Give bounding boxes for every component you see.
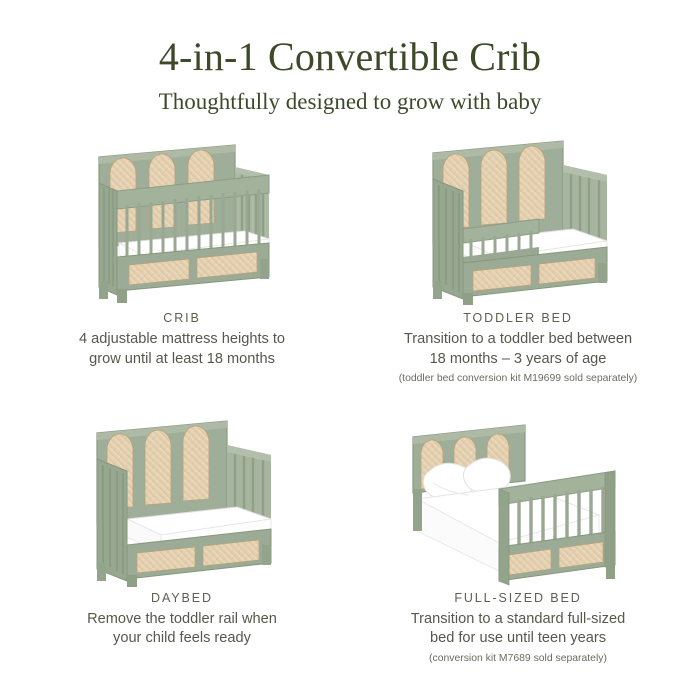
- full-bed-leg-right: [606, 561, 615, 579]
- config-line-2: 18 months – 3 years of age: [399, 350, 638, 370]
- crib-leg-front: [117, 289, 127, 303]
- config-line-2: bed for use until teen years: [411, 629, 625, 649]
- caption-full-sized-bed: FULL-SIZED BED Transition to a standard …: [411, 591, 625, 666]
- config-line-1: 4 adjustable mattress heights to: [79, 330, 285, 350]
- config-line-2: your child feels ready: [87, 629, 277, 649]
- config-label: DAYBED: [87, 591, 277, 605]
- daybed-leg-front: [127, 575, 137, 587]
- config-label: CRIB: [79, 311, 285, 325]
- toddler-bed-illustration: [411, 131, 626, 307]
- full-bed-svg: [403, 411, 633, 587]
- config-fine-print: (toddler bed conversion kit M19699 sold …: [399, 372, 638, 386]
- config-cell-full-sized-bed: FULL-SIZED BED Transition to a standard …: [350, 411, 686, 691]
- crib-left-end: [99, 183, 117, 295]
- caption-daybed: DAYBED Remove the toddler rail when your…: [87, 591, 277, 649]
- config-line-1: Transition to a standard full-sized: [411, 610, 625, 630]
- toddler-bed-svg: [411, 131, 626, 307]
- product-infographic: 4-in-1 Convertible Crib Thoughtfully des…: [0, 0, 700, 700]
- full-bed-leg-left: [413, 489, 422, 531]
- config-cell-toddler-bed: TODDLER BED Transition to a toddler bed …: [350, 131, 686, 411]
- config-fine-print: (conversion kit M7689 sold separately): [411, 652, 625, 666]
- crib-leg-left: [99, 281, 108, 299]
- full-bed-illustration: [403, 411, 633, 587]
- config-label: FULL-SIZED BED: [411, 591, 625, 605]
- configuration-grid: CRIB 4 adjustable mattress heights to gr…: [0, 117, 700, 700]
- daybed-left-end: [97, 459, 127, 581]
- page-title: 4-in-1 Convertible Crib: [0, 34, 700, 80]
- config-line-1: Transition to a toddler bed between: [399, 330, 638, 350]
- config-cell-daybed: DAYBED Remove the toddler rail when your…: [14, 411, 350, 691]
- toddler-leg-right: [598, 263, 607, 283]
- config-cell-crib: CRIB 4 adjustable mattress heights to gr…: [14, 131, 350, 411]
- daybed-svg: [75, 411, 290, 587]
- daybed-leg-right: [262, 545, 271, 565]
- page-subtitle: Thoughtfully designed to grow with baby: [0, 87, 700, 117]
- config-line-1: Remove the toddler rail when: [87, 610, 277, 630]
- toddler-leg-left: [433, 281, 442, 299]
- caption-crib: CRIB 4 adjustable mattress heights to gr…: [79, 311, 285, 369]
- daybed-illustration: [75, 411, 290, 587]
- daybed-leg-left: [97, 563, 106, 581]
- crib-illustration: [77, 131, 287, 307]
- header: 4-in-1 Convertible Crib Thoughtfully des…: [0, 0, 700, 117]
- config-line-2: grow until at least 18 months: [79, 350, 285, 370]
- toddler-leg-front: [463, 293, 473, 305]
- crib-leg-right: [260, 259, 269, 279]
- caption-toddler-bed: TODDLER BED Transition to a toddler bed …: [399, 311, 638, 386]
- config-label: TODDLER BED: [399, 311, 638, 325]
- crib-svg: [77, 131, 287, 307]
